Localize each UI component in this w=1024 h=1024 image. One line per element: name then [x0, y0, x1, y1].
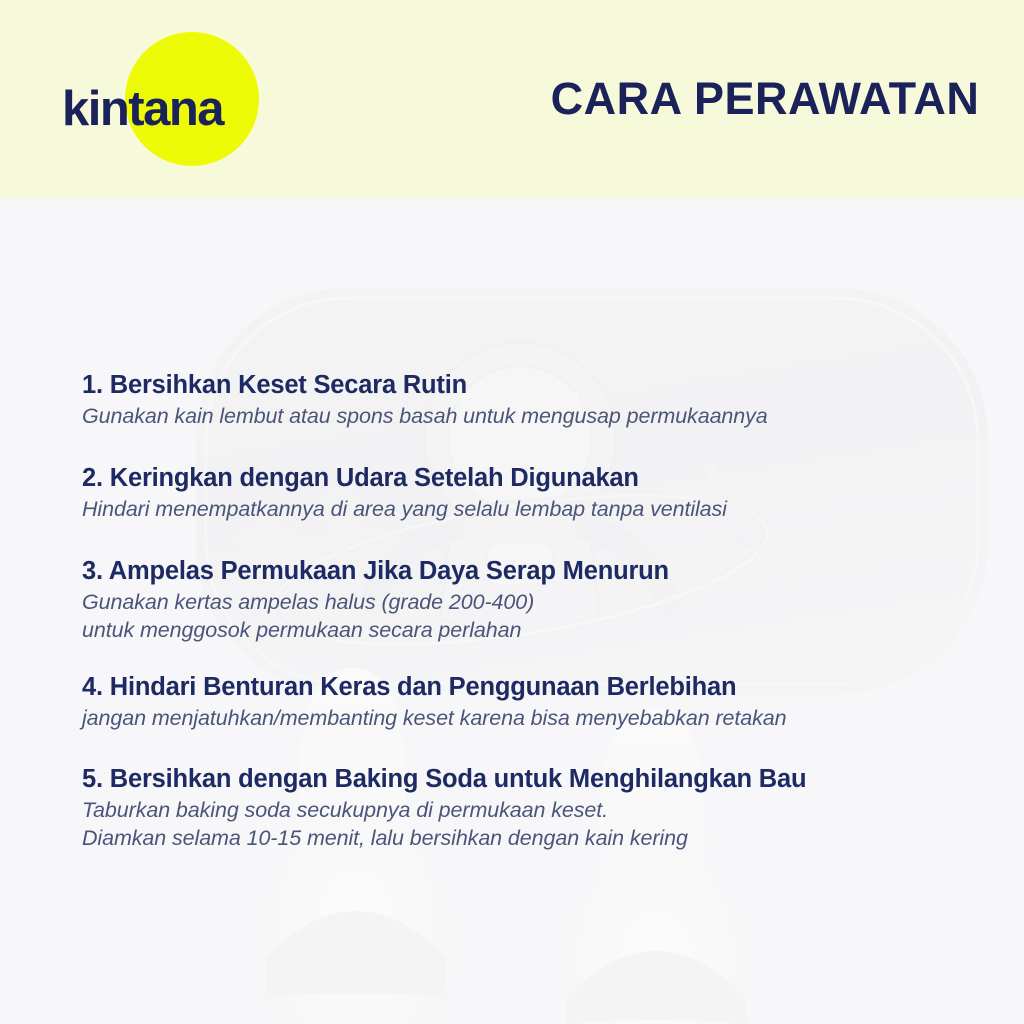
step-title: 1. Bersihkan Keset Secara Rutin	[82, 370, 1012, 400]
list-item: 4. Hindari Benturan Keras dan Penggunaan…	[82, 672, 1012, 732]
step-description-line: Gunakan kertas ampelas halus (grade 200-…	[82, 588, 1012, 616]
step-title: 2. Keringkan dengan Udara Setelah Diguna…	[82, 463, 1012, 493]
step-title: 5. Bersihkan dengan Baking Soda untuk Me…	[82, 764, 1012, 794]
step-description-line: Taburkan baking soda secukupnya di permu…	[82, 796, 1012, 824]
step-title: 3. Ampelas Permukaan Jika Daya Serap Men…	[82, 556, 1012, 586]
step-description-line: jangan menjatuhkan/membanting keset kare…	[82, 704, 1012, 732]
care-instructions-list: 1. Bersihkan Keset Secara Rutin Gunakan …	[0, 198, 1024, 1024]
list-item: 3. Ampelas Permukaan Jika Daya Serap Men…	[82, 556, 1012, 645]
step-description: jangan menjatuhkan/membanting keset kare…	[82, 704, 1012, 732]
list-item: 1. Bersihkan Keset Secara Rutin Gunakan …	[82, 370, 1012, 430]
header-band: kintana CARA PERAWATAN	[0, 0, 1024, 198]
step-description: Taburkan baking soda secukupnya di permu…	[82, 796, 1012, 853]
step-title: 4. Hindari Benturan Keras dan Penggunaan…	[82, 672, 1012, 702]
step-description-line: Gunakan kain lembut atau spons basah unt…	[82, 402, 1012, 430]
page-title: CARA PERAWATAN	[520, 0, 1010, 198]
list-item: 5. Bersihkan dengan Baking Soda untuk Me…	[82, 764, 1012, 853]
step-description-line: untuk menggosok permukaan secara perlaha…	[82, 616, 1012, 644]
list-item: 2. Keringkan dengan Udara Setelah Diguna…	[82, 463, 1012, 523]
logo-wordmark: kintana	[62, 85, 223, 134]
brand-logo[interactable]: kintana	[62, 30, 362, 170]
step-description: Hindari menempatkannya di area yang sela…	[82, 495, 1012, 523]
step-description-line: Hindari menempatkannya di area yang sela…	[82, 495, 1012, 523]
step-description-line: Diamkan selama 10-15 menit, lalu bersihk…	[82, 824, 1012, 852]
infographic-page: kintana CARA PERAWATAN 1. Bersihkan Kese…	[0, 0, 1024, 1024]
step-description: Gunakan kain lembut atau spons basah unt…	[82, 402, 1012, 430]
step-description: Gunakan kertas ampelas halus (grade 200-…	[82, 588, 1012, 645]
